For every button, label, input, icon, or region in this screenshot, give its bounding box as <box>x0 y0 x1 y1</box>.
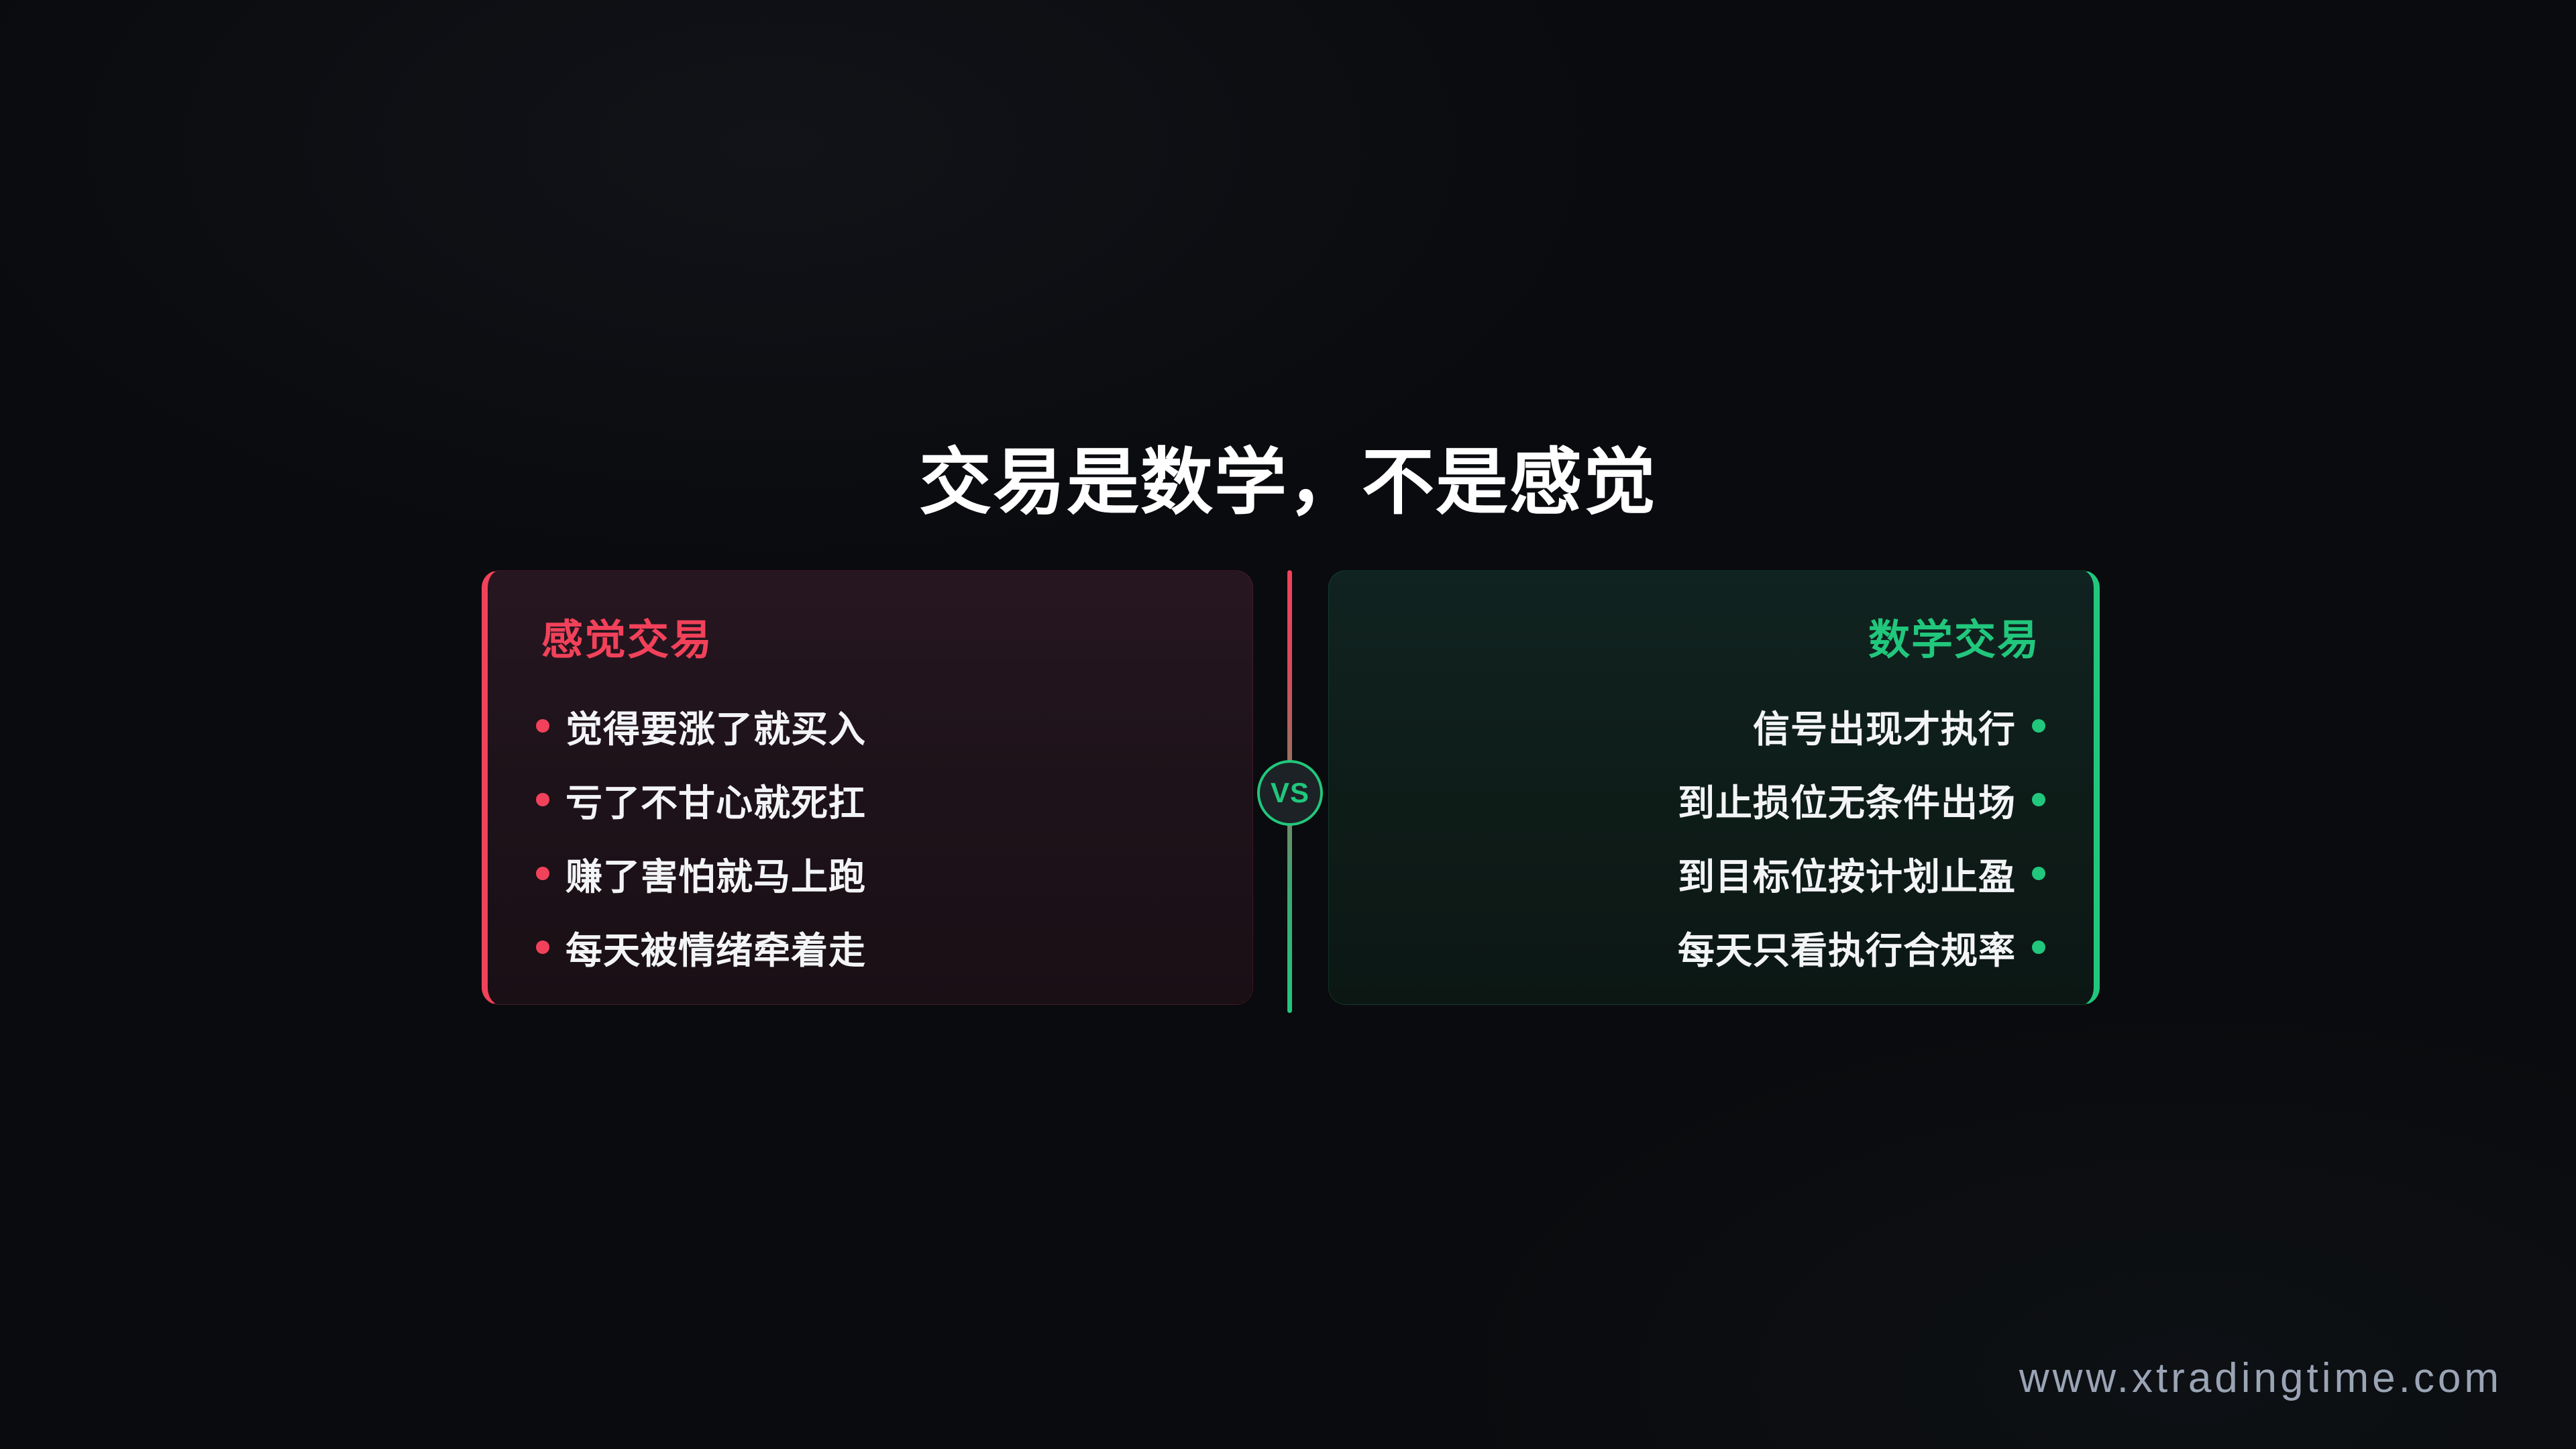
mathematical-trading-heading: 数学交易 <box>1868 606 2040 666</box>
list-item: 每天只看执行合规率 <box>1383 910 2045 984</box>
mathematical-trading-list: 信号出现才执行 到止损位无条件出场 到目标位按计划止盈 每天只看执行合规率 <box>1329 689 2094 984</box>
dot-icon <box>536 941 549 954</box>
site-watermark: www.xtradingtime.com <box>2019 1354 2502 1402</box>
list-item-label: 每天只看执行合规率 <box>1678 920 2016 974</box>
list-item-label: 每天被情绪牵着走 <box>566 920 866 974</box>
list-item: 赚了害怕就马上跑 <box>536 837 1199 910</box>
list-item-label: 觉得要涨了就买入 <box>566 699 866 753</box>
dot-icon <box>2032 719 2045 733</box>
list-item: 每天被情绪牵着走 <box>536 910 1199 984</box>
list-item: 亏了不甘心就死扛 <box>536 763 1199 837</box>
dot-icon <box>2032 793 2045 806</box>
list-item-label: 到目标位按计划止盈 <box>1678 847 2016 900</box>
list-item-label: 到止损位无条件出场 <box>1678 773 2016 826</box>
list-item: 觉得要涨了就买入 <box>536 689 1199 763</box>
slide-canvas: 交易是数学，不是感觉 感觉交易 觉得要涨了就买入 亏了不甘心就死扛 赚了害怕就马… <box>0 0 2576 1449</box>
list-item: 信号出现才执行 <box>1383 689 2045 763</box>
dot-icon <box>2032 867 2045 880</box>
emotional-trading-list: 觉得要涨了就买入 亏了不甘心就死扛 赚了害怕就马上跑 每天被情绪牵着走 <box>488 689 1252 984</box>
list-item: 到止损位无条件出场 <box>1383 763 2045 837</box>
emotional-trading-heading: 感觉交易 <box>541 606 713 666</box>
list-item: 到目标位按计划止盈 <box>1383 837 2045 910</box>
page-title: 交易是数学，不是感觉 <box>0 439 2576 525</box>
dot-icon <box>536 867 549 880</box>
mathematical-trading-card: 数学交易 信号出现才执行 到止损位无条件出场 到目标位按计划止盈 每天只看执行合… <box>1328 570 2100 1005</box>
vs-badge: VS <box>1257 760 1323 826</box>
list-item-label: 赚了害怕就马上跑 <box>566 847 866 900</box>
dot-icon <box>536 719 549 733</box>
dot-icon <box>2032 941 2045 954</box>
emotional-trading-card: 感觉交易 觉得要涨了就买入 亏了不甘心就死扛 赚了害怕就马上跑 每天被情绪牵着走 <box>482 570 1253 1005</box>
list-item-label: 信号出现才执行 <box>1753 699 2016 753</box>
dot-icon <box>536 793 549 806</box>
list-item-label: 亏了不甘心就死扛 <box>566 773 866 826</box>
